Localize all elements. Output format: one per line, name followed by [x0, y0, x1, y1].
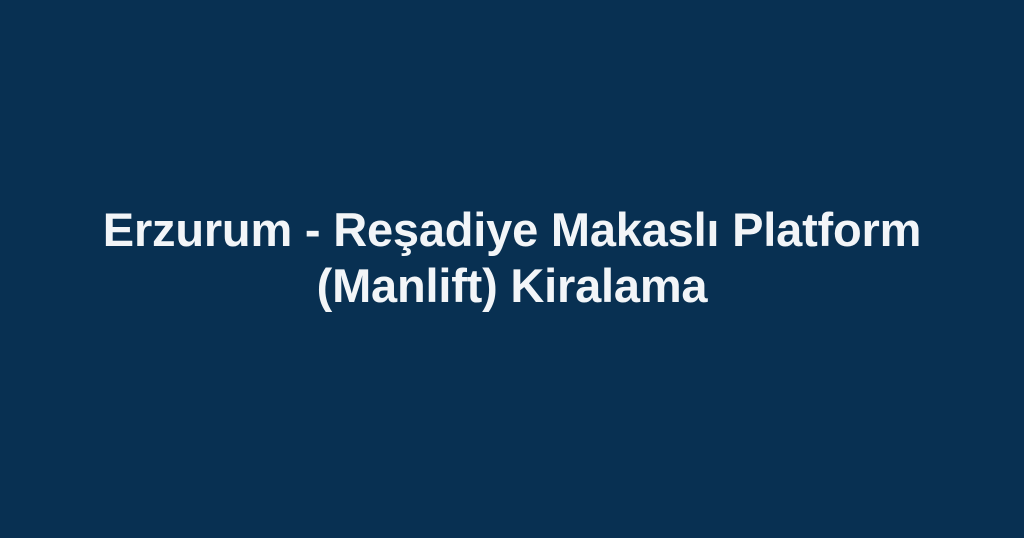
page-title: Erzurum - Reşadiye Makaslı Platform (Man…	[103, 202, 921, 314]
page-title-line-1: Erzurum - Reşadiye Makaslı Platform	[103, 203, 921, 256]
banner-content: Erzurum - Reşadiye Makaslı Platform (Man…	[0, 202, 1024, 314]
banner-card: Erzurum - Reşadiye Makaslı Platform (Man…	[0, 0, 1024, 538]
page-title-line-2: (Manlift) Kiralama	[317, 259, 708, 312]
